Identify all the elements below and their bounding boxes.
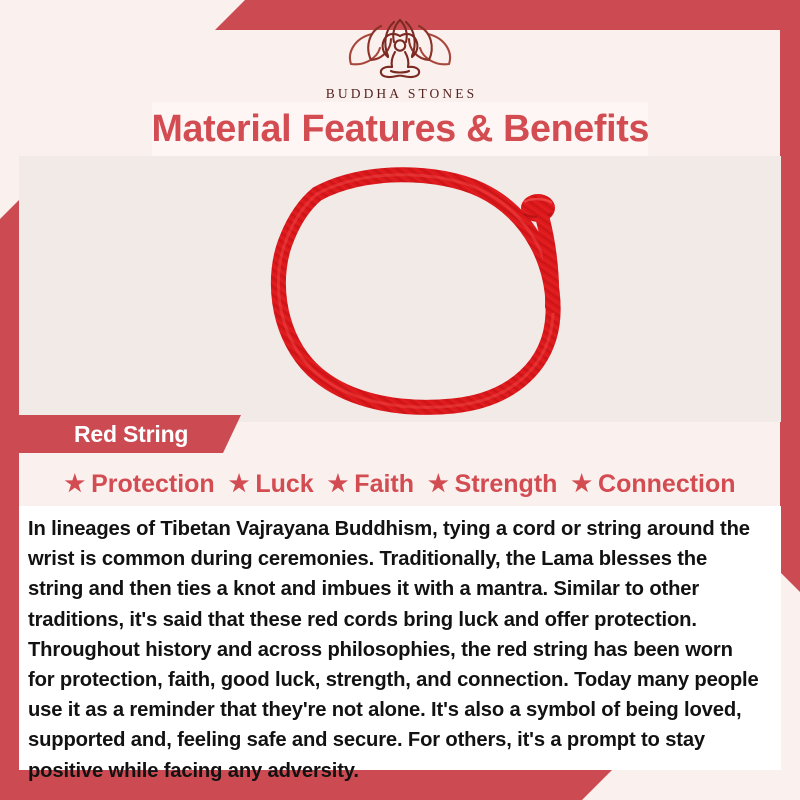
- benefits-list: ★ Protection ★ Luck ★ Faith ★ Strength ★…: [0, 463, 800, 505]
- benefit-item-connection: ★ Connection: [564, 470, 742, 499]
- star-icon: ★: [328, 472, 349, 495]
- headline-band: Material Features & Benefits: [152, 102, 648, 156]
- benefit-label: Strength: [455, 470, 558, 499]
- poster-canvas: BUDDHA STONES Material Features & Benefi…: [0, 0, 800, 800]
- page-title: Material Features & Benefits: [151, 108, 649, 151]
- benefit-label: Faith: [354, 470, 414, 499]
- star-icon: ★: [229, 472, 250, 495]
- product-image: [19, 156, 781, 422]
- brand-wordmark: BUDDHA STONES: [0, 86, 800, 102]
- lotus-meditation-icon: [325, 12, 475, 84]
- red-braided-string-bracelet-illustration: [19, 156, 781, 422]
- description-panel: In lineages of Tibetan Vajrayana Buddhis…: [19, 506, 781, 770]
- material-name: Red String: [19, 421, 188, 448]
- benefit-item-strength: ★ Strength: [421, 470, 564, 499]
- benefit-label: Luck: [255, 470, 313, 499]
- benefit-item-protection: ★ Protection: [57, 470, 221, 499]
- star-icon: ★: [428, 472, 449, 495]
- brand-logo: BUDDHA STONES: [0, 12, 800, 102]
- benefit-label: Protection: [91, 470, 215, 499]
- star-icon: ★: [571, 472, 592, 495]
- benefit-item-luck: ★ Luck: [222, 470, 321, 499]
- benefit-label: Connection: [598, 470, 736, 499]
- description-text: In lineages of Tibetan Vajrayana Buddhis…: [28, 514, 763, 786]
- material-ribbon: Red String: [19, 415, 241, 453]
- star-icon: ★: [64, 472, 85, 495]
- benefit-item-faith: ★ Faith: [321, 470, 421, 499]
